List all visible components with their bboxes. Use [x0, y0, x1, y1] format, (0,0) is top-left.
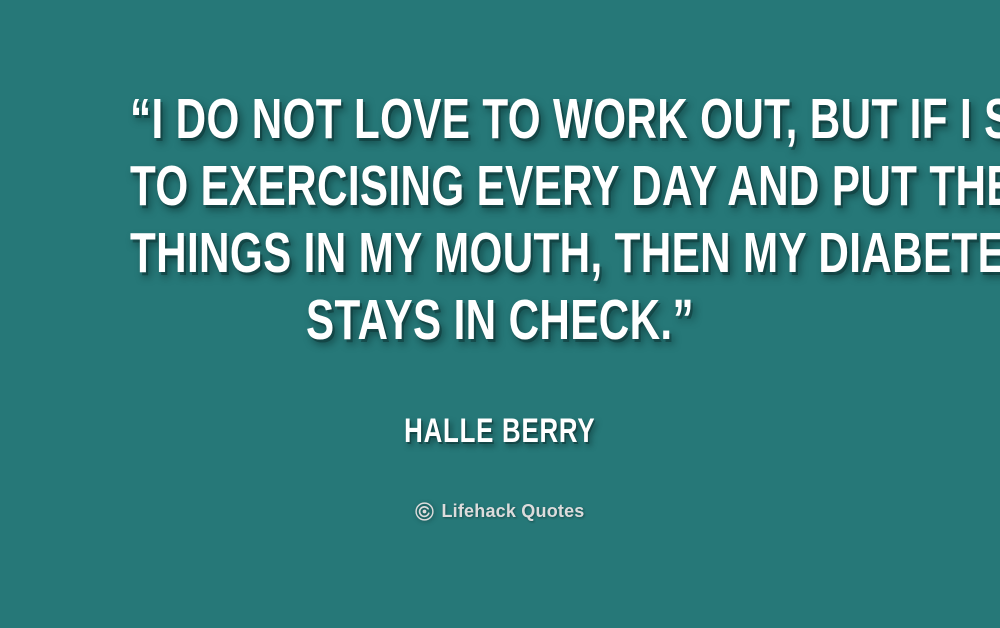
brand-footer: Lifehack Quotes — [0, 501, 1000, 521]
quote-line-2: TO EXERCISING EVERY DAY AND PUT THE RIGH… — [130, 153, 870, 220]
quote-author: HALLE BERRY — [0, 410, 1000, 452]
author-name: HALLE BERRY — [404, 410, 595, 452]
quote-line-4: STAYS IN CHECK.” — [130, 287, 870, 354]
quote-card: “I DO NOT LOVE TO WORK OUT, BUT IF I STI… — [0, 0, 1000, 628]
quote-line-1: “I DO NOT LOVE TO WORK OUT, BUT IF I STI… — [130, 86, 870, 153]
quote-text-block: “I DO NOT LOVE TO WORK OUT, BUT IF I STI… — [0, 86, 1000, 354]
lifehack-circle-logo-icon — [415, 502, 434, 521]
brand-name-label: Lifehack Quotes — [441, 501, 584, 521]
quote-line-3: THINGS IN MY MOUTH, THEN MY DIABETES JUS… — [130, 220, 870, 287]
